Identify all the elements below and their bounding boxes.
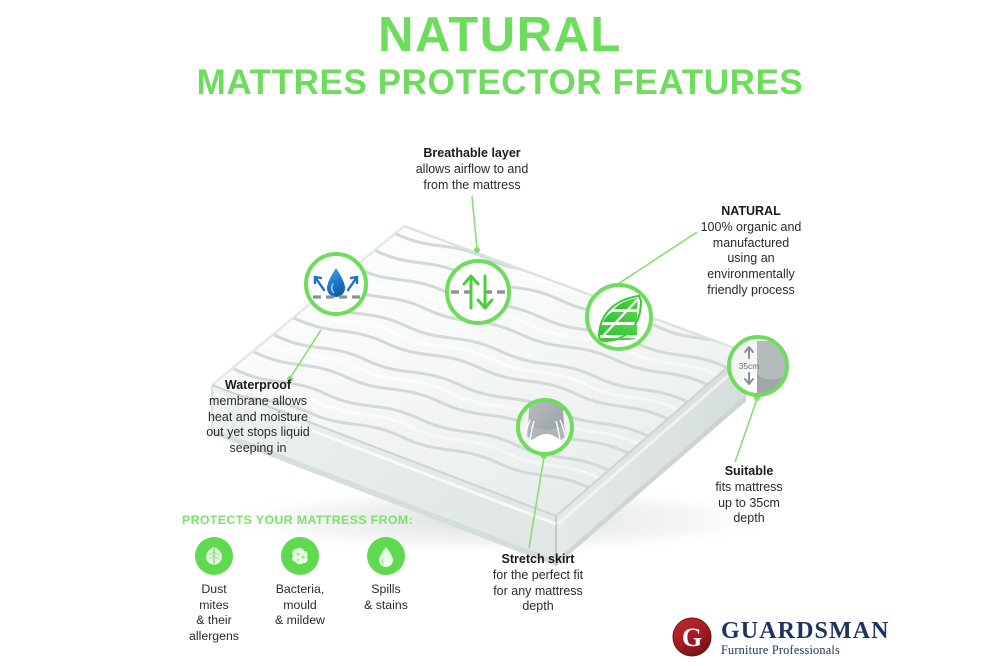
protects-item-caption: Dust mites & their allergens	[182, 582, 246, 645]
dust-mite-icon	[195, 537, 233, 575]
callout-body-line: fits mattress	[666, 480, 832, 496]
guardsman-monogram-icon: G	[672, 617, 712, 657]
callout-waterproof: Waterproof membrane allows heat and mois…	[168, 378, 348, 457]
spill-drop-icon	[367, 537, 405, 575]
protects-item-dust-mites: Dust mites & their allergens	[182, 537, 246, 645]
callout-stretch-skirt: Stretch skirt for the perfect fit for an…	[448, 552, 628, 615]
breathable-arrows-icon[interactable]	[447, 261, 509, 323]
logo-wordmark: GUARDSMAN	[721, 619, 890, 643]
callout-suitable: Suitable fits mattress up to 35cm depth	[666, 464, 832, 527]
callout-title: NATURAL	[656, 204, 846, 220]
callout-title: Breathable layer	[392, 146, 552, 162]
callout-breathable: Breathable layer allows airflow to and f…	[392, 146, 552, 193]
protects-section: PROTECTS YOUR MATTRESS FROM: Dust mites …	[182, 513, 442, 645]
protects-heading: PROTECTS YOUR MATTRESS FROM:	[182, 513, 442, 527]
infographic-canvas: NATURAL MATTRES PROTECTOR FEATURES	[0, 0, 1000, 666]
callout-title: Stretch skirt	[448, 552, 628, 568]
callout-body-line: depth	[666, 511, 832, 527]
callout-body-line: allows airflow to and	[392, 162, 552, 178]
callout-body-line: 100% organic and	[656, 220, 846, 236]
protects-item-caption: Bacteria, mould & mildew	[268, 582, 332, 629]
callout-body-line: up to 35cm	[666, 496, 832, 512]
logo-tagline: Furniture Professionals	[721, 644, 890, 656]
guardsman-wordmark-block: GUARDSMAN Furniture Professionals	[721, 617, 890, 656]
depth-gauge-icon[interactable]: 35cm	[729, 337, 790, 396]
protects-item-row: Dust mites & their allergens Bacter	[182, 537, 442, 645]
protects-item-bacteria: Bacteria, mould & mildew	[268, 537, 332, 629]
callout-body-line: depth	[448, 599, 628, 615]
callout-body-line: seeping in	[168, 441, 348, 457]
callout-title: Suitable	[666, 464, 832, 480]
protects-item-caption: Spills & stains	[354, 582, 418, 613]
callout-body-line: manufactured	[656, 236, 846, 252]
depth-value-label: 35cm	[739, 361, 760, 371]
callout-body-line: heat and moisture	[168, 410, 348, 426]
callout-body-line: from the mattress	[392, 178, 552, 194]
svg-text:G: G	[682, 623, 702, 652]
callout-title: Waterproof	[168, 378, 348, 394]
leaf-icon[interactable]	[587, 285, 651, 349]
callout-body-line: using an	[656, 251, 846, 267]
bacteria-mould-icon	[281, 537, 319, 575]
callout-body-line: for the perfect fit	[448, 568, 628, 584]
callout-body-line: out yet stops liquid	[168, 425, 348, 441]
water-droplet-icon[interactable]	[306, 254, 366, 314]
callout-body-line: membrane allows	[168, 394, 348, 410]
callout-body-line: environmentally	[656, 267, 846, 283]
guardsman-logo[interactable]: G GUARDSMAN Furniture Professionals	[672, 617, 890, 657]
callout-natural: NATURAL 100% organic and manufactured us…	[656, 204, 846, 299]
protects-item-spills: Spills & stains	[354, 537, 418, 613]
callout-body-line: friendly process	[656, 283, 846, 299]
callout-body-line: for any mattress	[448, 584, 628, 600]
